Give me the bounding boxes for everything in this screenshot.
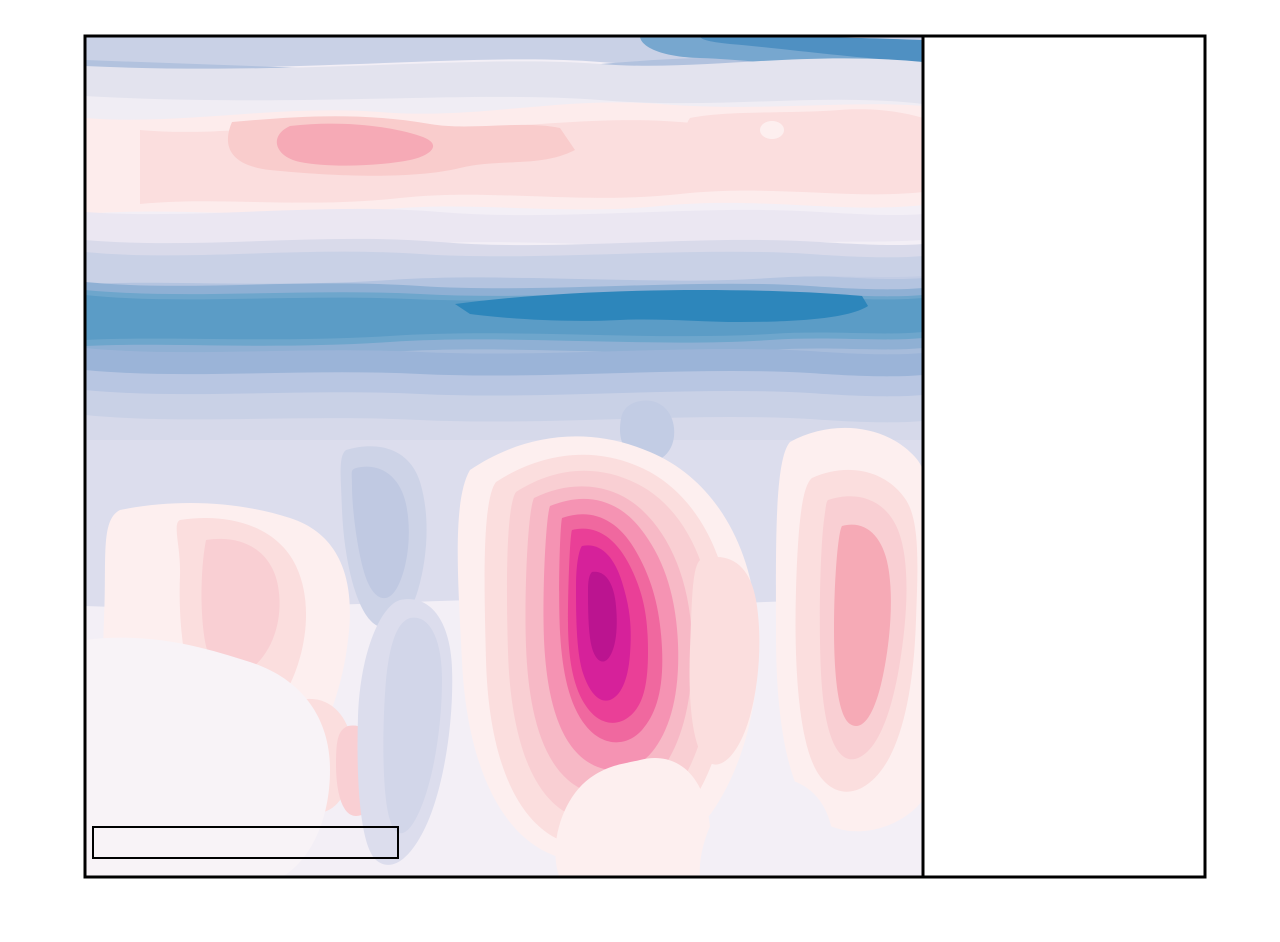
contour-field (85, 36, 924, 878)
chart-page (0, 0, 1280, 942)
energy-panel (923, 36, 1205, 877)
chart-canvas (0, 0, 1280, 942)
